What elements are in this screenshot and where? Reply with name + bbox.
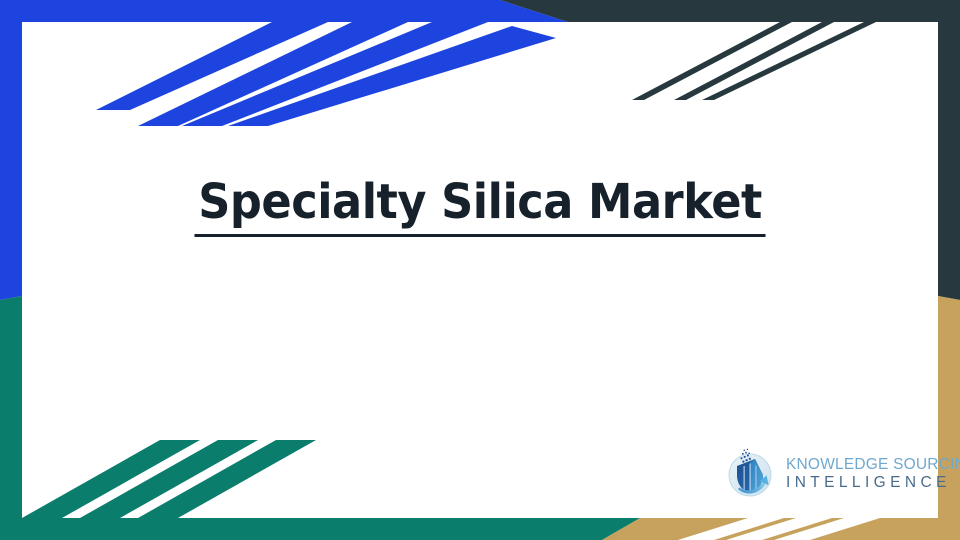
top-right-navy-decor [500, 0, 960, 300]
title-slide: Specialty Silica Market [0, 0, 960, 540]
company-logo: KNOWLEDGE SOURCING INTELLIGENCE [722, 444, 934, 502]
title-block: Specialty Silica Market [0, 178, 960, 237]
knowledge-sourcing-intelligence-logo-mark-icon [722, 445, 778, 501]
logo-line-secondary: INTELLIGENCE [786, 474, 960, 492]
page-title: Specialty Silica Market [194, 178, 765, 237]
bottom-right-gold-decor [602, 296, 960, 540]
top-left-blue-decor [0, 0, 568, 300]
bottom-left-teal-decor [0, 296, 640, 540]
logo-line-primary: KNOWLEDGE SOURCING [786, 456, 960, 474]
logo-wordmark: KNOWLEDGE SOURCING INTELLIGENCE [786, 454, 960, 493]
